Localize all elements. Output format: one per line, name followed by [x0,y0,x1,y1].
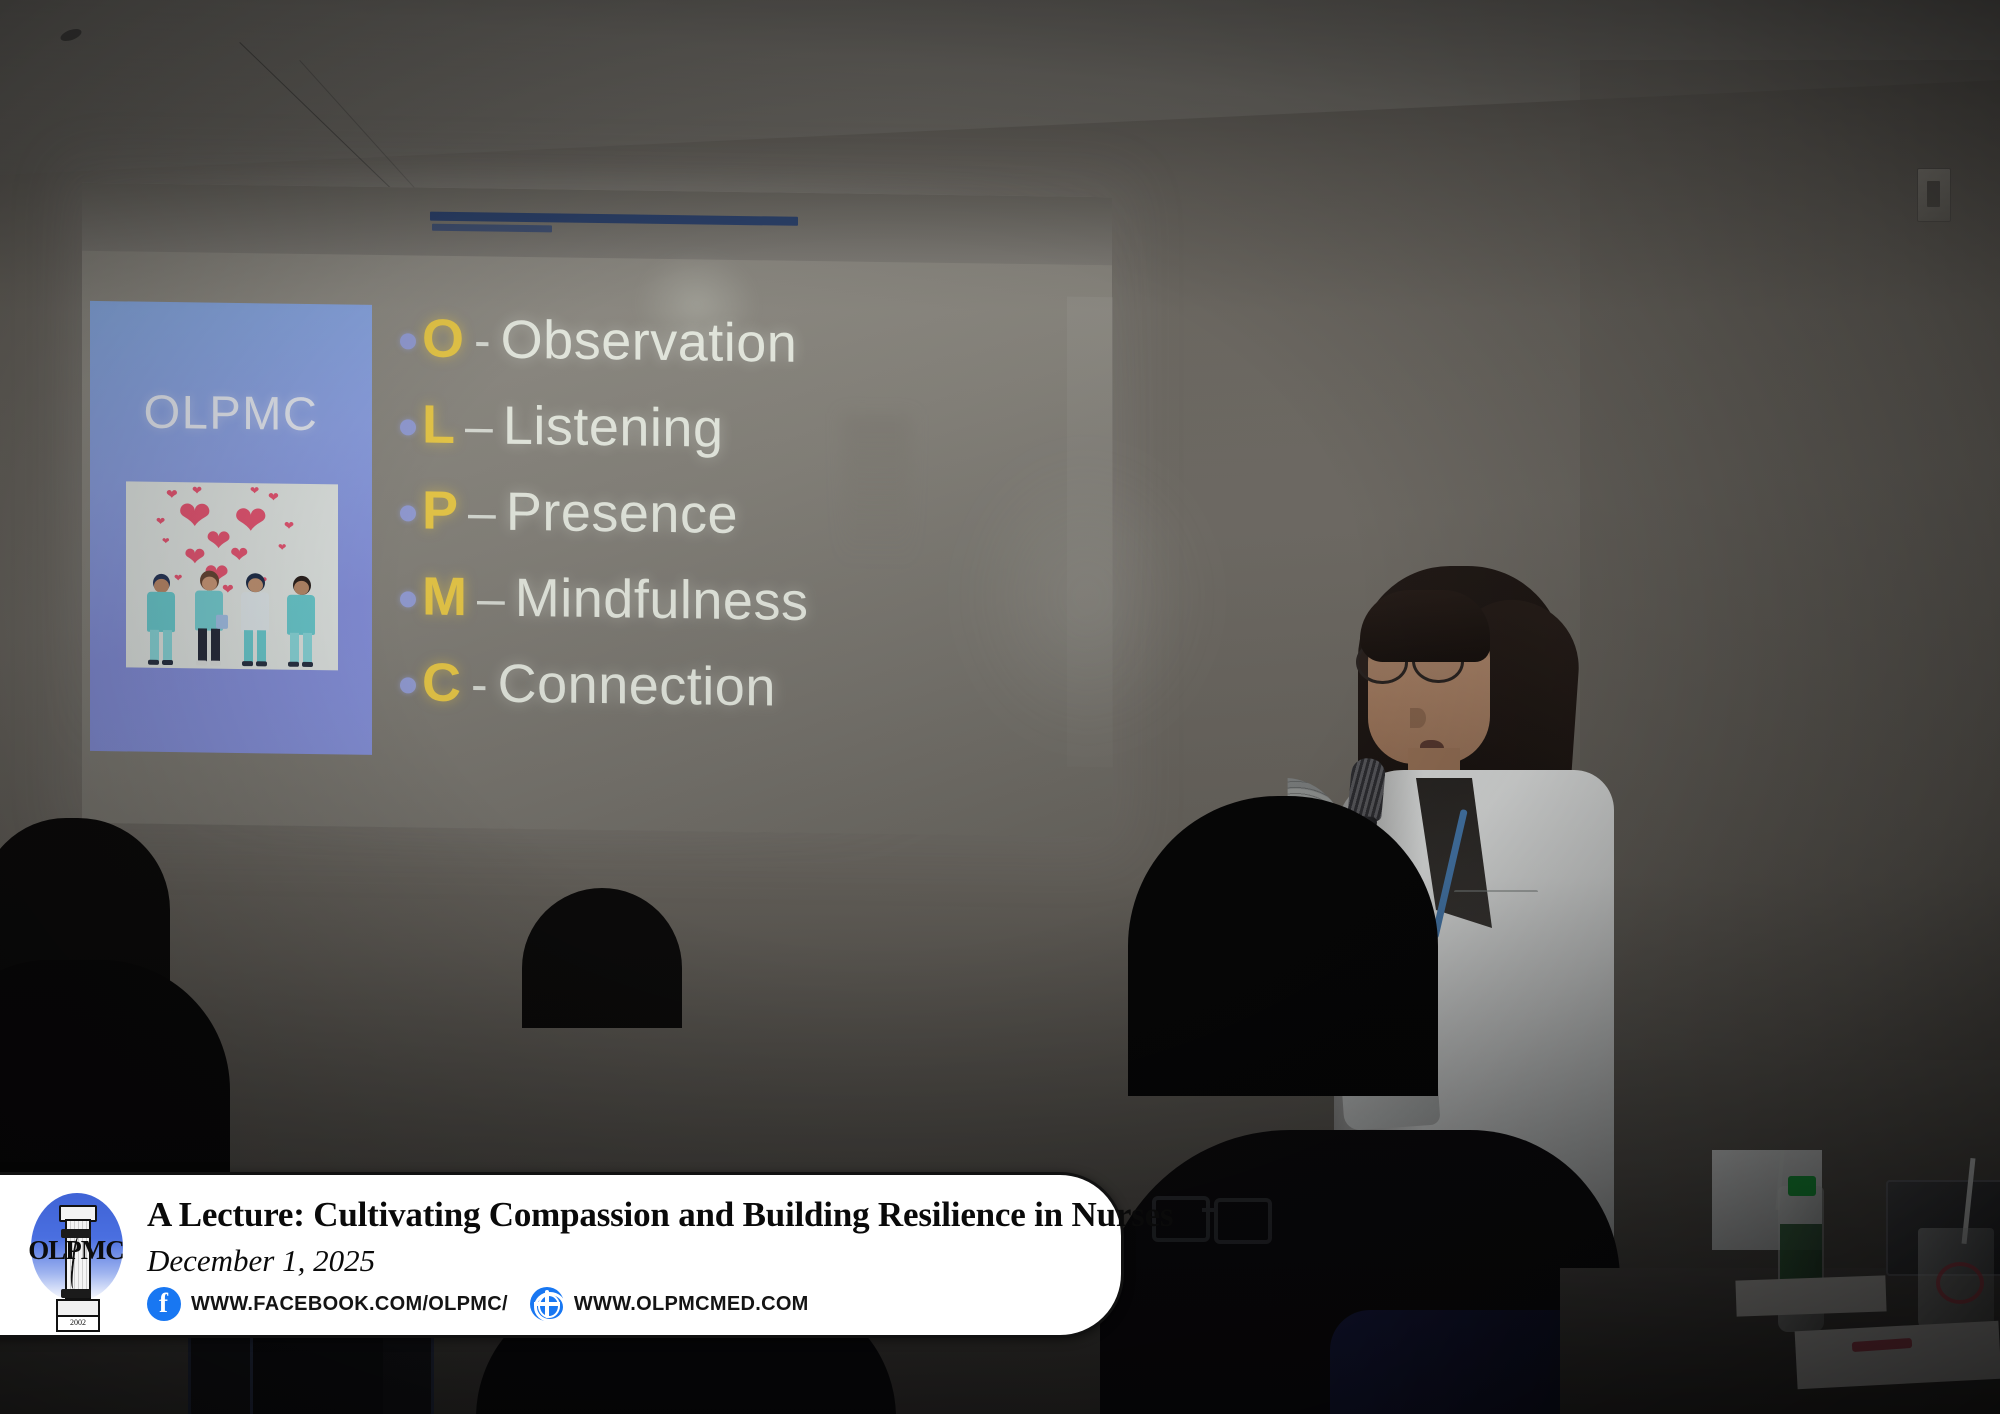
bullet-dash: - [474,311,491,369]
heart-icon: ❤ [250,485,259,496]
presenter-nose [1410,708,1426,728]
lecture-photo-scene: OLPMC ❤ ❤ ❤ ❤ ❤ ❤ ❤ ❤ ❤ ❤ ❤ ❤ ❤ ❤ ❤ ❤ ❤ [0,0,2000,1414]
website-link-label[interactable]: WWW.OLPMCMED.COM [574,1293,809,1316]
globe-icon[interactable] [530,1287,564,1321]
heart-icon: ❤ [192,484,202,496]
slide-bullet-item: M – Mindfulness [400,565,1100,643]
heart-icon: ❤ [230,545,248,567]
event-banner: 2002 OLPMC A Lecture: Cultivating Compas… [0,1172,1124,1338]
bullet-key-letter: L [422,394,455,456]
bullet-label: Connection [498,653,776,719]
heart-icon: ❤ [206,527,231,557]
bullet-dash: - [471,655,488,713]
logo-year: 2002 [56,1315,100,1332]
heart-icon: ❤ [166,488,178,502]
banner-title: A Lecture: Cultivating Compassion and Bu… [147,1195,1173,1235]
cup-logo [1936,1262,1984,1304]
bullet-dash: – [468,483,496,541]
nurse-figure [144,574,178,666]
bullet-label: Mindfulness [515,567,809,633]
coat-pocket [1454,890,1538,942]
nurse-figure [238,573,272,667]
logo-text: OLPMC [17,1235,135,1266]
bullet-dot-icon [400,677,416,693]
bullet-key-letter: P [422,480,458,543]
nurses-with-hearts-illustration: ❤ ❤ ❤ ❤ ❤ ❤ ❤ ❤ ❤ ❤ ❤ ❤ ❤ ❤ ❤ ❤ ❤ [126,481,338,670]
slide-bullet-item: P – Presence [400,479,1100,557]
slide-card-title-text: OLPMC [90,383,372,442]
slide-bullet-list: O - Observation L – Listening P – Presen… [400,307,1100,747]
nurse-figure [284,576,318,668]
audience-silhouette [1128,796,1438,1096]
heart-icon: ❤ [184,544,206,570]
nurse-figure [192,570,226,666]
presenter-hair-front [1360,590,1490,662]
banner-links: WWW.FACEBOOK.COM/OLPMC/ WWW.OLPMCMED.COM [147,1287,809,1321]
bullet-label: Listening [503,395,724,460]
bullet-dash: – [477,569,505,627]
bottle-cap [1788,1176,1816,1196]
projection-screen: OLPMC ❤ ❤ ❤ ❤ ❤ ❤ ❤ ❤ ❤ ❤ ❤ ❤ ❤ ❤ ❤ ❤ ❤ [82,183,1112,837]
slide-bullet-item: O - Observation [400,307,1100,385]
paper-sheet [1795,1321,2000,1390]
bullet-dot-icon [400,591,416,607]
banner-date: December 1, 2025 [147,1243,375,1279]
bullet-dot-icon [400,505,416,521]
heart-icon: ❤ [234,501,268,541]
heart-icon: ❤ [278,544,286,554]
heart-icon: ❤ [268,491,279,504]
light-switch-plate[interactable] [1917,168,1951,222]
olpmc-logo: 2002 OLPMC [17,1189,135,1321]
slide-title-card: OLPMC ❤ ❤ ❤ ❤ ❤ ❤ ❤ ❤ ❤ ❤ ❤ ❤ ❤ ❤ ❤ ❤ ❤ [90,301,372,755]
bullet-key-letter: O [422,308,464,371]
facebook-icon[interactable] [147,1287,181,1321]
bullet-key-letter: C [422,652,461,715]
bullet-label: Observation [501,309,798,375]
bullet-key-letter: M [422,566,467,629]
heart-icon: ❤ [284,520,294,532]
bullet-dash: – [465,397,493,455]
bullet-dot-icon [400,333,416,349]
slide-bullet-item: C - Connection [400,651,1100,729]
column-ring [61,1289,91,1298]
screen-top-band [82,183,1112,265]
audience-shirt [1330,1310,1590,1414]
bullet-dot-icon [400,419,416,435]
heart-icon: ❤ [162,538,170,547]
facebook-link-label[interactable]: WWW.FACEBOOK.COM/OLPMC/ [191,1293,508,1316]
heart-icon: ❤ [156,516,165,527]
slide-bullet-item: L – Listening [400,393,1100,471]
paper-sheet [1735,1275,1886,1316]
bullet-label: Presence [506,481,738,546]
